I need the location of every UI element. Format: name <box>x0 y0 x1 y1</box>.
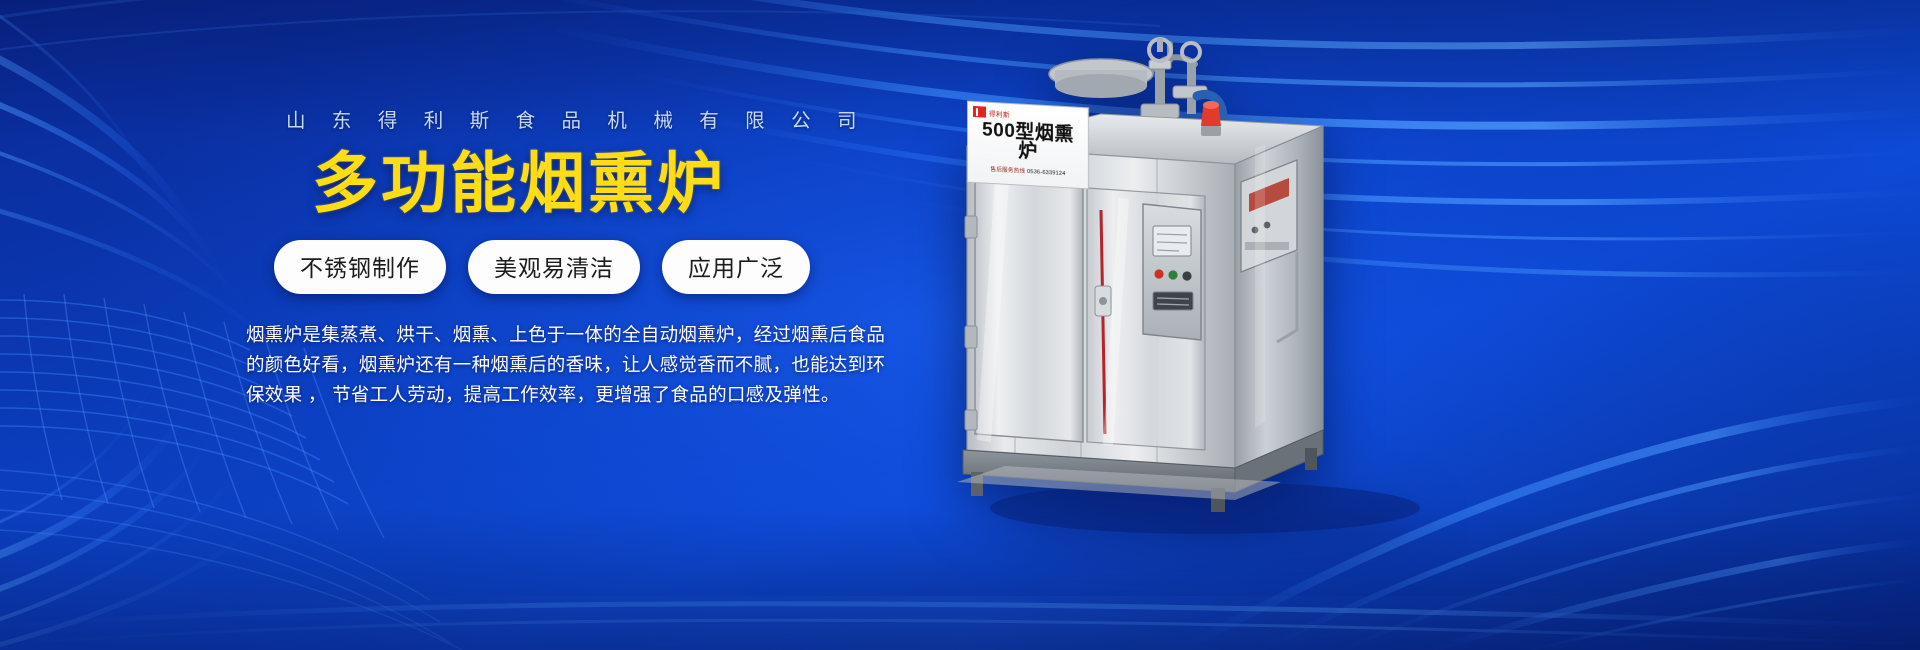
product-photo: 得利斯 500型烟熏炉 售后服务热线 0536-6339124 <box>905 30 1545 550</box>
feature-pill-easy-clean[interactable]: 美观易清洁 <box>468 240 640 294</box>
machine-sign-service: 售后服务热线 0536-6339124 <box>973 164 1083 178</box>
brand-logo-icon <box>973 106 986 118</box>
feature-pill-wide-application[interactable]: 应用广泛 <box>662 240 810 294</box>
machine-sign-service-label: 售后服务热线 <box>990 167 1025 175</box>
company-name: 山 东 得 利 斯 食 品 机 械 有 限 公 司 <box>246 104 846 133</box>
machine-sign-service-phone: 0536-6339124 <box>1027 169 1065 177</box>
page-title: 多功能烟熏炉 <box>246 149 846 218</box>
description-line-1: 烟熏炉是集蒸煮、烘干、烟熏、上色于一体的全自动烟熏炉，经过烟熏后食品 <box>246 320 808 350</box>
description-line-3: 保效果 ， 节省工人劳动，提高工作效率，更增强了食品的口感及弹性。 <box>246 380 808 410</box>
machine-sign-plate: 得利斯 500型烟熏炉 售后服务热线 0536-6339124 <box>967 101 1089 190</box>
feature-pill-list: 不锈钢制作 美观易清洁 应用广泛 <box>246 240 846 294</box>
description-line-2: 的颜色好看，烟熏炉还有一种烟熏后的香味，让人感觉香而不腻，也能达到环 <box>246 350 808 380</box>
machine-sign-brand: 得利斯 <box>989 107 1010 118</box>
machine-sign-title: 500型烟熏炉 <box>973 120 1083 164</box>
feature-pill-stainless-steel[interactable]: 不锈钢制作 <box>274 240 446 294</box>
product-description: 烟熏炉是集蒸煮、烘干、烟熏、上色于一体的全自动烟熏炉，经过烟熏后食品 的颜色好看… <box>246 320 808 410</box>
promo-banner: 山 东 得 利 斯 食 品 机 械 有 限 公 司 多功能烟熏炉 不锈钢制作 美… <box>0 0 1920 650</box>
banner-copy: 山 东 得 利 斯 食 品 机 械 有 限 公 司 多功能烟熏炉 不锈钢制作 美… <box>246 104 846 410</box>
